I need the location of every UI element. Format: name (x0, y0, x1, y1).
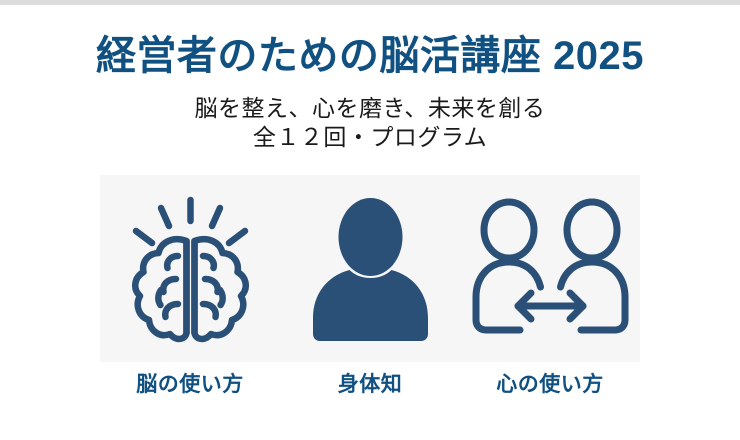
subtitle-line-2: 全１２回・プログラム (0, 123, 740, 152)
two-people-exchange-icon (468, 194, 633, 344)
subtitle-block: 脳を整え、心を磨き、未来を創る 全１２回・プログラム (0, 94, 740, 152)
top-edge-strip (0, 0, 740, 5)
slide-canvas: 経営者のための脳活講座 2025 脳を整え、心を磨き、未来を創る 全１２回・プロ… (0, 0, 740, 440)
label-brain: 脳の使い方 (100, 368, 280, 398)
subtitle-line-1: 脳を整え、心を磨き、未来を創る (0, 94, 740, 123)
icon-cell-brain (100, 175, 280, 362)
person-silhouette-icon (308, 194, 433, 344)
icon-cell-two-people (460, 175, 640, 362)
icon-cell-person (280, 175, 460, 362)
brain-icon (123, 194, 258, 344)
icon-label-row: 脳の使い方 身体知 心の使い方 (100, 368, 640, 398)
page-title: 経営者のための脳活講座 2025 (0, 34, 740, 78)
label-heart: 心の使い方 (460, 368, 640, 398)
label-body: 身体知 (280, 368, 460, 398)
icon-panel (100, 175, 640, 362)
